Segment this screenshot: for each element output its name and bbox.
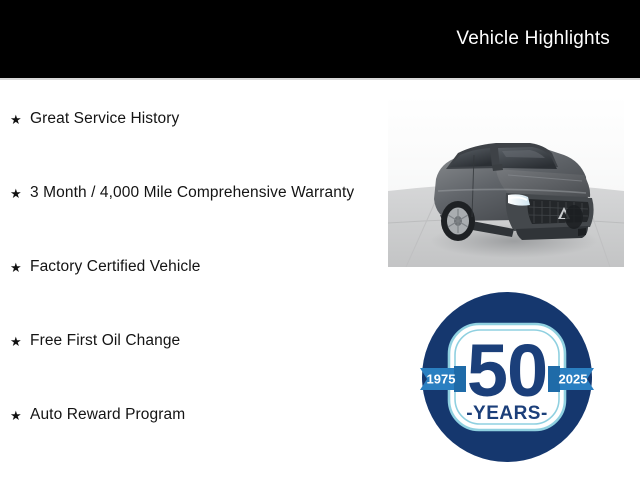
vehicle-illustration: [388, 95, 624, 267]
list-item: ★ Free First Oil Change: [0, 308, 372, 382]
list-item-label: Great Service History: [30, 86, 372, 129]
star-icon: ★: [10, 234, 30, 278]
anniversary-badge: 1975 2025 50 -YEARS-: [418, 288, 596, 466]
list-item: ★ Great Service History: [0, 86, 372, 160]
star-icon: ★: [10, 382, 30, 426]
star-icon: ★: [10, 86, 30, 130]
end-year-label: 2025: [559, 372, 588, 387]
vehicle-photo: [388, 95, 624, 267]
page-title: Vehicle Highlights: [456, 28, 610, 50]
list-item: ★ Factory Certified Vehicle: [0, 234, 372, 308]
star-icon: ★: [10, 308, 30, 352]
start-year-label: 1975: [427, 372, 456, 387]
anniversary-badge-graphic: 1975 2025 50 -YEARS-: [418, 288, 596, 466]
list-item: ★ Auto Reward Program: [0, 382, 372, 456]
list-item-label: Auto Reward Program: [30, 382, 372, 425]
list-item-label: 3 Month / 4,000 Mile Comprehensive Warra…: [30, 160, 372, 203]
list-item-label: Free First Oil Change: [30, 308, 372, 351]
list-item-label: Factory Certified Vehicle: [30, 234, 372, 277]
header-divider: [0, 78, 640, 80]
vehicle-highlights-list: ★ Great Service History ★ 3 Month / 4,00…: [0, 86, 372, 456]
star-icon: ★: [10, 160, 30, 204]
years-label: -YEARS-: [466, 403, 548, 424]
years-number: 50: [467, 329, 547, 412]
list-item: ★ 3 Month / 4,000 Mile Comprehensive War…: [0, 160, 372, 234]
